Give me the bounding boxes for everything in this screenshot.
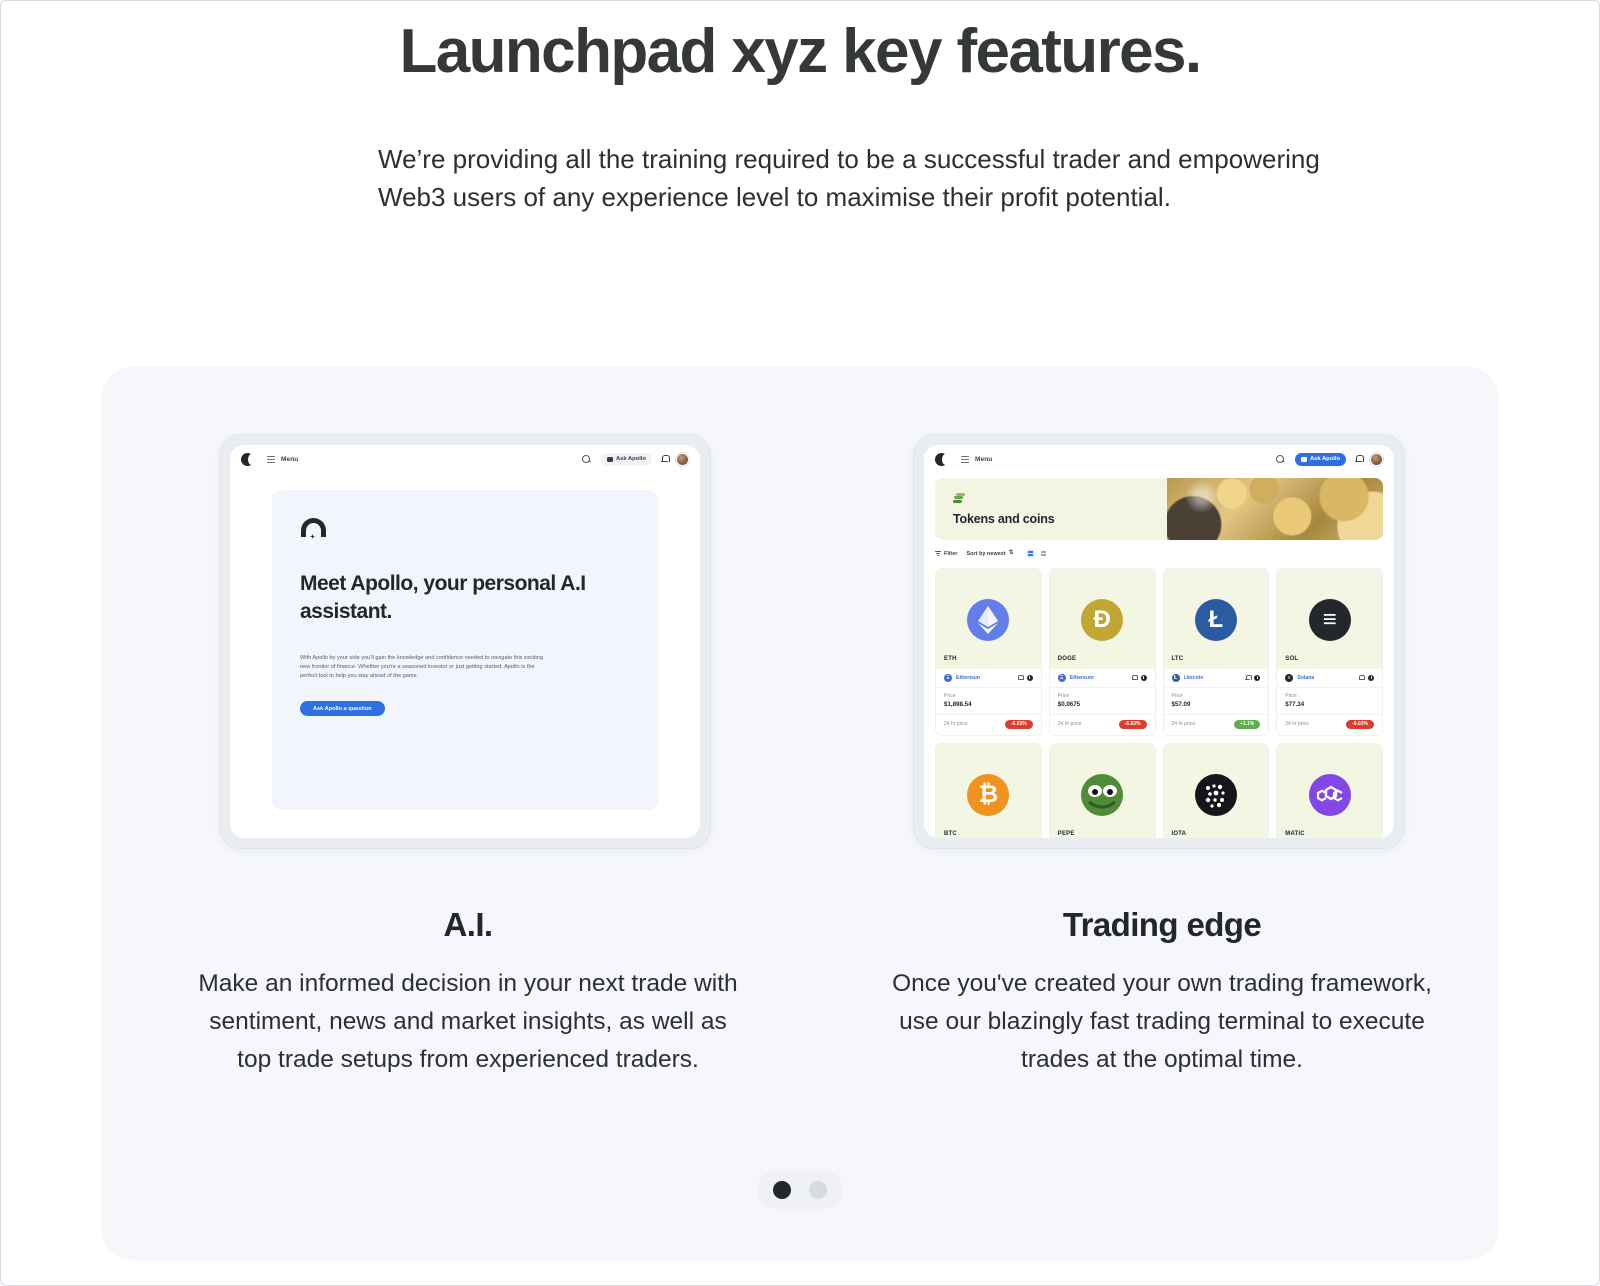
coin-change-badge: -6.03%: [1005, 720, 1033, 729]
coin-change-badge: -6.93%: [1119, 720, 1147, 729]
app-header-trading: Menu Ask Apollo: [924, 445, 1394, 473]
coin-symbol: DOGE: [1058, 656, 1076, 662]
chain-name: Litecoin: [1184, 675, 1204, 681]
coin-change-badge: -6.03%: [1346, 720, 1374, 729]
slide-caption-ai: A.I. Make an informed decision in your n…: [193, 906, 743, 1079]
coin-alert-bell-icon[interactable]: [1359, 675, 1364, 681]
coin-price-value: $0.0675: [1058, 701, 1147, 708]
coin-card-header: MATIC: [1277, 744, 1382, 839]
coin-info-icon[interactable]: [1254, 675, 1260, 681]
menu-label[interactable]: Menu: [975, 456, 992, 463]
ask-apollo-label: Ask Apollo: [616, 456, 646, 462]
filter-icon: [935, 551, 941, 557]
coin-symbol: PEPE: [1058, 831, 1075, 837]
coin-card[interactable]: PEPE: [1049, 743, 1156, 839]
tablet-mockup-ai: Menu Ask Apollo: [219, 434, 711, 849]
hamburger-icon[interactable]: [267, 456, 275, 463]
coin-card-header: ÐDOGE: [1050, 569, 1155, 669]
filter-button[interactable]: Filter: [935, 551, 957, 557]
sort-button[interactable]: Sort by newest ⇅: [966, 550, 1014, 557]
coin-change-row: 24 hr price-6.03%: [936, 715, 1041, 735]
coin-card[interactable]: ≡SOL≡SolanaPrice$77.3424 hr price-6.03%: [1276, 568, 1383, 736]
chain-icon: Ξ: [1058, 674, 1066, 682]
sort-arrows-icon: ⇅: [1009, 550, 1015, 557]
chain-icon: Ł: [1172, 674, 1180, 682]
features-carousel: Menu Ask Apollo: [101, 366, 1499, 1261]
gold-coins-image: [1167, 478, 1383, 540]
grid-view-icon[interactable]: [1026, 549, 1035, 558]
chain-icon: ≡: [1285, 674, 1293, 682]
coin-info-icon[interactable]: [1141, 675, 1147, 681]
coin-chain-row: ΞEthereum: [936, 669, 1041, 688]
chain-name: Ethereum: [1070, 675, 1094, 681]
coin-card[interactable]: ŁLTCŁLitecoinPrice$57.0924 hr price+1.1%: [1163, 568, 1270, 736]
coin-price-value: $57.09: [1172, 701, 1261, 708]
user-avatar[interactable]: [1370, 453, 1383, 466]
coin-card-grid: ETHΞEthereumPrice$1,898.5424 hr price-6.…: [935, 568, 1383, 838]
tokens-banner-title: Tokens and coins: [953, 512, 1167, 526]
slide-text-trading: Once you've created your own trading fra…: [887, 965, 1437, 1079]
chain-icon: Ξ: [944, 674, 952, 682]
sol-logo-icon: ≡: [1309, 599, 1351, 641]
doge-logo-icon: Ð: [1081, 599, 1123, 641]
tablet-mockup-trading: Menu Ask Apollo: [913, 434, 1405, 849]
ask-apollo-label: Ask Apollo: [1310, 456, 1340, 462]
chain-name: Solana: [1297, 675, 1314, 681]
coin-price-label: Price: [1058, 693, 1147, 699]
coin-alert-bell-icon[interactable]: [1245, 675, 1250, 681]
chat-bubble-icon: [1301, 457, 1307, 462]
coin-card-header: ≡SOL: [1277, 569, 1382, 669]
coin-price-row: Price$77.34: [1277, 688, 1382, 715]
eth-logo-icon: [967, 599, 1009, 641]
coin-chain-row: ΞEthereum: [1050, 669, 1155, 688]
app-screen-ai: Menu Ask Apollo: [230, 445, 700, 838]
search-icon[interactable]: [581, 454, 592, 465]
bell-icon[interactable]: [1355, 455, 1362, 464]
carousel-dot-2[interactable]: [809, 1181, 827, 1199]
list-view-icon[interactable]: [1039, 549, 1048, 558]
btc-logo-icon: ₿: [967, 774, 1009, 816]
hamburger-icon[interactable]: [961, 456, 969, 463]
slide-text-ai: Make an informed decision in your next t…: [193, 965, 743, 1079]
coin-alert-bell-icon[interactable]: [1132, 675, 1137, 681]
ask-apollo-button[interactable]: Ask Apollo: [1295, 453, 1346, 466]
coin-alert-bell-icon[interactable]: [1018, 675, 1023, 681]
coin-change-row: 24 hr price+1.1%: [1164, 715, 1269, 735]
coin-card-header: ETH: [936, 569, 1041, 669]
coin-card[interactable]: ETHΞEthereumPrice$1,898.5424 hr price-6.…: [935, 568, 1042, 736]
coin-price-label: Price: [1285, 693, 1374, 699]
slide-trading-edge: Menu Ask Apollo: [913, 366, 1410, 1261]
coin-symbol: MATIC: [1285, 831, 1305, 837]
slide-heading-trading: Trading edge: [887, 906, 1437, 944]
coin-symbol: LTC: [1172, 656, 1184, 662]
coin-change-label: 24 hr price: [1285, 721, 1309, 727]
slide-ai: Menu Ask Apollo: [219, 366, 716, 1261]
matic-logo-icon: [1309, 774, 1351, 816]
user-avatar[interactable]: [676, 453, 689, 466]
coin-price-label: Price: [944, 693, 1033, 699]
bell-icon[interactable]: [661, 455, 668, 464]
coin-symbol: BTC: [944, 831, 957, 837]
coin-change-label: 24 hr price: [944, 721, 968, 727]
ask-apollo-question-button[interactable]: Ask Apollo a question: [300, 701, 385, 716]
pepe-logo-icon: [1081, 774, 1123, 816]
coin-info-icon[interactable]: [1027, 675, 1033, 681]
app-header-ai: Menu Ask Apollo: [230, 445, 700, 473]
coin-card-header: IOTA: [1164, 744, 1269, 839]
apollo-hero-title: Meet Apollo, your personal A.I assistant…: [300, 570, 630, 625]
coin-change-row: 24 hr price-6.93%: [1050, 715, 1155, 735]
search-icon[interactable]: [1275, 454, 1286, 465]
coin-price-value: $1,898.54: [944, 701, 1033, 708]
page-root: Launchpad xyz key features. We’re provid…: [0, 0, 1600, 1286]
slide-caption-trading: Trading edge Once you've created your ow…: [887, 906, 1437, 1079]
coin-symbol: ETH: [944, 656, 957, 662]
coin-change-label: 24 hr price: [1172, 721, 1196, 727]
coin-change-badge: +1.1%: [1234, 720, 1260, 729]
carousel-pagination: [757, 1171, 843, 1209]
coin-symbol: IOTA: [1172, 831, 1187, 837]
coin-chain-row: ≡Solana: [1277, 669, 1382, 688]
carousel-slides: Menu Ask Apollo: [101, 366, 1499, 1261]
iota-logo-icon: [1195, 774, 1237, 816]
coin-card[interactable]: ÐDOGEΞEthereumPrice$0.067524 hr price-6.…: [1049, 568, 1156, 736]
coin-price-label: Price: [1172, 693, 1261, 699]
coin-card[interactable]: IOTA: [1163, 743, 1270, 839]
menu-label[interactable]: Menu: [281, 456, 298, 463]
coin-card[interactable]: ₿BTC: [935, 743, 1042, 839]
launchpad-logo-icon: [241, 453, 254, 466]
tokens-and-coins-banner[interactable]: Tokens and coins: [935, 478, 1383, 540]
coin-change-row: 24 hr price-6.03%: [1277, 715, 1382, 735]
coin-card-header: ₿BTC: [936, 744, 1041, 839]
coin-change-label: 24 hr price: [1058, 721, 1082, 727]
coin-price-row: Price$1,898.54: [936, 688, 1041, 715]
coins-icon: [953, 493, 966, 505]
filter-label: Filter: [944, 551, 957, 557]
view-toggle: [1026, 549, 1048, 558]
apollo-hero-body: With Apollo by your side you'll gain the…: [300, 654, 543, 681]
apollo-arch-logo-icon: [300, 516, 327, 543]
coin-price-value: $77.34: [1285, 701, 1374, 708]
coin-card[interactable]: MATIC: [1276, 743, 1383, 839]
page-subtitle: We’re providing all the training require…: [378, 140, 1368, 216]
tokens-banner-text: Tokens and coins: [935, 478, 1167, 540]
coin-card-header: PEPE: [1050, 744, 1155, 839]
tokens-filter-bar: Filter Sort by newest ⇅: [935, 547, 1383, 560]
chat-bubble-icon: [607, 457, 613, 462]
ask-apollo-button[interactable]: Ask Apollo: [601, 453, 652, 466]
chain-name: Ethereum: [956, 675, 980, 681]
slide-heading-ai: A.I.: [193, 906, 743, 944]
coin-symbol: SOL: [1285, 656, 1298, 662]
launchpad-logo-icon: [935, 453, 948, 466]
coin-chain-row: ŁLitecoin: [1164, 669, 1269, 688]
page-title: Launchpad xyz key features.: [0, 18, 1600, 86]
apollo-hero-card: Meet Apollo, your personal A.I assistant…: [272, 490, 658, 810]
app-screen-trading: Menu Ask Apollo: [924, 445, 1394, 838]
sort-label: Sort by newest: [966, 551, 1005, 557]
coin-info-icon[interactable]: [1368, 675, 1374, 681]
coin-price-row: Price$57.09: [1164, 688, 1269, 715]
coin-card-header: ŁLTC: [1164, 569, 1269, 669]
coin-price-row: Price$0.0675: [1050, 688, 1155, 715]
ltc-logo-icon: Ł: [1195, 599, 1237, 641]
carousel-dot-1[interactable]: [773, 1181, 791, 1199]
